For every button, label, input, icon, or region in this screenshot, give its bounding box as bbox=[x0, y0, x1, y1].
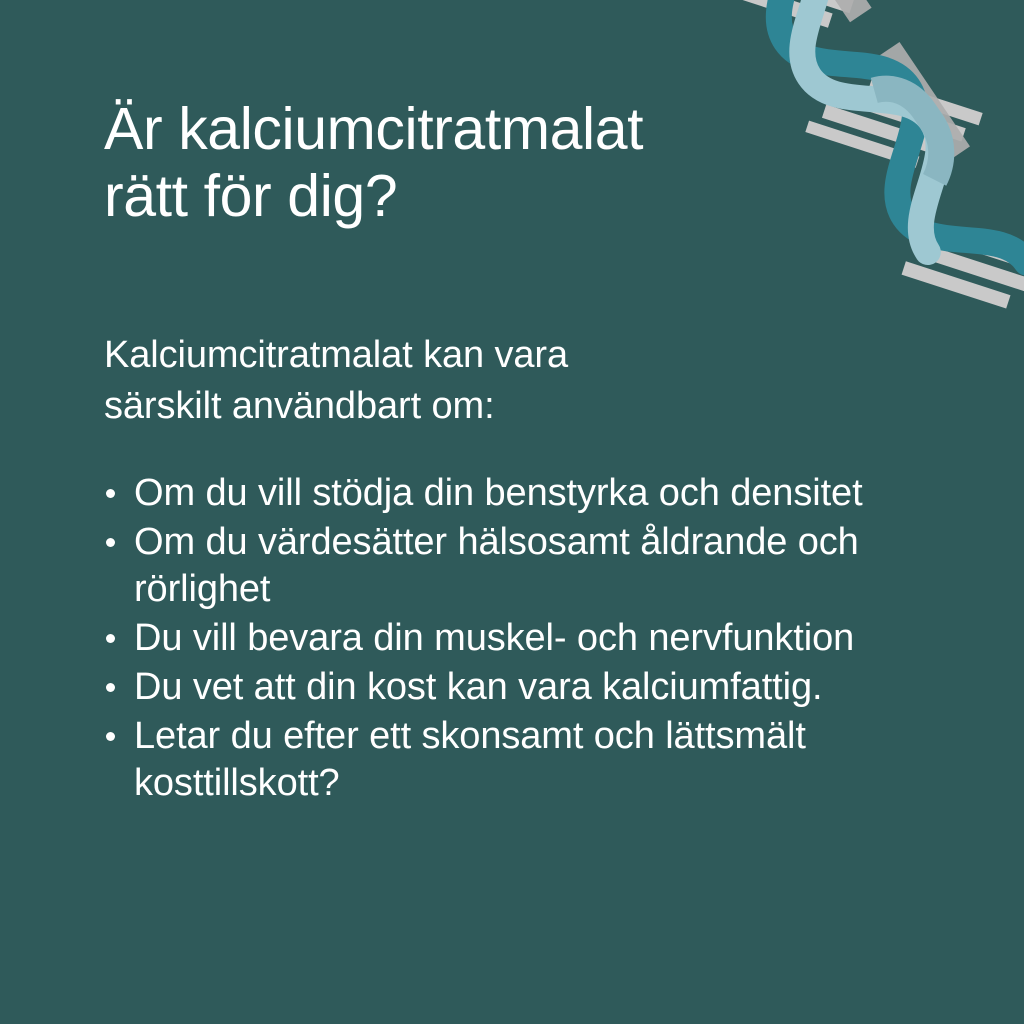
bullet-dot-icon bbox=[106, 683, 115, 692]
list-item: Du vet att din kost kan vara kalciumfatt… bbox=[104, 664, 934, 711]
list-item: Letar du efter ett skonsamt och lättsmäl… bbox=[104, 713, 934, 807]
benefit-list: Om du vill stödja din benstyrka och dens… bbox=[104, 470, 934, 808]
slide-canvas: Är kalciumcitratmalat rätt för dig? Kalc… bbox=[0, 0, 1024, 1024]
bullet-dot-icon bbox=[106, 634, 115, 643]
list-item-label: Du vet att din kost kan vara kalciumfatt… bbox=[134, 664, 934, 711]
list-item: Du vill bevara din muskel- och nervfunkt… bbox=[104, 615, 934, 662]
bullet-dot-icon bbox=[106, 538, 115, 547]
content-layer: Är kalciumcitratmalat rätt för dig? Kalc… bbox=[0, 0, 1024, 1024]
list-item: Om du värdesätter hälsosamt åldrande och… bbox=[104, 519, 934, 613]
list-item-label: Letar du efter ett skonsamt och lättsmäl… bbox=[134, 713, 934, 807]
lead-paragraph: Kalciumcitratmalat kan vara särskilt anv… bbox=[104, 330, 764, 431]
bullet-dot-icon bbox=[106, 489, 115, 498]
bullet-dot-icon bbox=[106, 732, 115, 741]
list-item-label: Om du värdesätter hälsosamt åldrande och… bbox=[134, 519, 934, 613]
list-item: Om du vill stödja din benstyrka och dens… bbox=[104, 470, 934, 517]
list-item-label: Om du vill stödja din benstyrka och dens… bbox=[134, 470, 934, 517]
list-item-label: Du vill bevara din muskel- och nervfunkt… bbox=[134, 615, 934, 662]
page-title: Är kalciumcitratmalat rätt för dig? bbox=[104, 96, 804, 229]
